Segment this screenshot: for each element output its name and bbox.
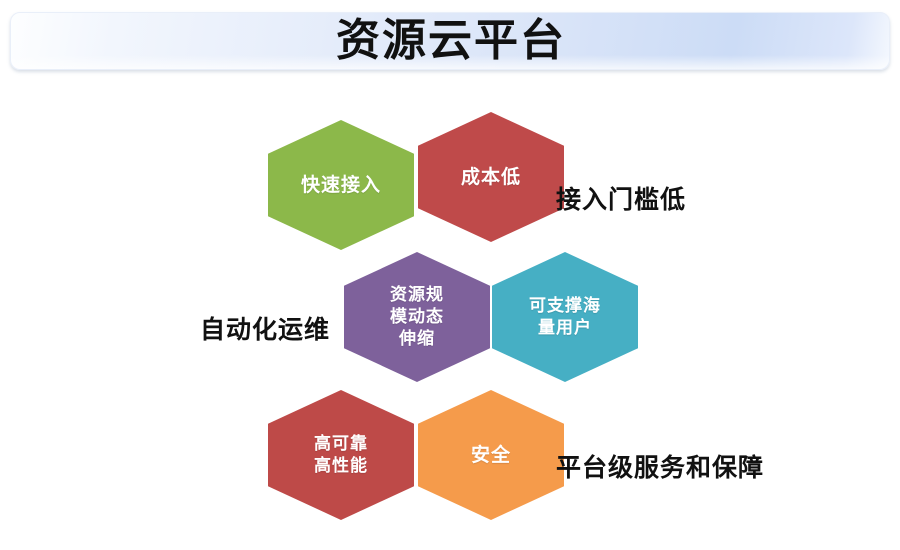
hexagon-reliable-performant-label: 高可靠 高性能: [308, 433, 374, 477]
hexagon-low-cost[interactable]: 成本低: [418, 112, 564, 242]
callout-automated-ops: 自动化运维: [200, 310, 330, 346]
page-title: 资源云平台: [11, 13, 891, 71]
hexagon-reliable-performant[interactable]: 高可靠 高性能: [268, 390, 414, 520]
hexagon-security[interactable]: 安全: [418, 390, 564, 520]
hexagon-security-label: 安全: [465, 443, 517, 468]
hexagon-massive-users[interactable]: 可支撑海 量用户: [492, 252, 638, 382]
hexagon-elastic-scale[interactable]: 资源规 模动态 伸缩: [344, 252, 490, 382]
hexagon-elastic-scale-label: 资源规 模动态 伸缩: [384, 284, 450, 350]
title-banner: 资源云平台: [10, 12, 890, 70]
hexagon-massive-users-label: 可支撑海 量用户: [523, 295, 607, 339]
callout-low-entry-barrier: 接入门槛低: [556, 180, 686, 216]
hexagon-honeycomb-diagram: 快速接入 成本低 资源规 模动态 伸缩 可支撑海 量用户 高可靠 高性能 安全 …: [0, 70, 900, 550]
callout-platform-service-guarantee: 平台级服务和保障: [556, 448, 764, 484]
hexagon-fast-access[interactable]: 快速接入: [268, 120, 414, 250]
hexagon-low-cost-label: 成本低: [455, 165, 527, 190]
hexagon-fast-access-label: 快速接入: [295, 173, 387, 198]
